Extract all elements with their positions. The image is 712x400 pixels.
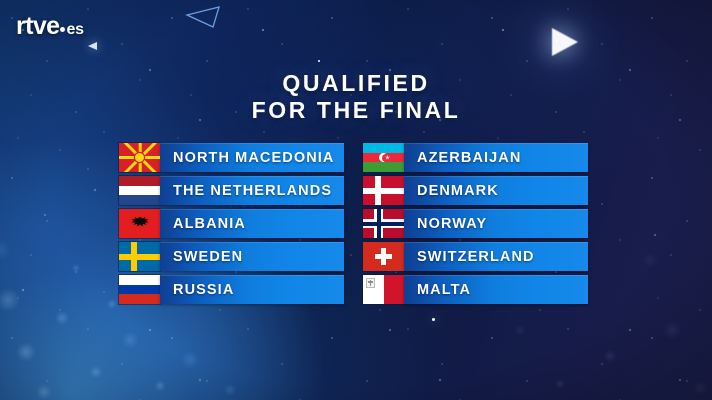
broadcast-graphic: rtvees QUALIFIED FOR THE FINAL NORTH MAC… bbox=[0, 0, 712, 400]
table-row: THE NETHERLANDS DENMARK bbox=[119, 176, 593, 205]
qualifier-entry-sweden: SWEDEN bbox=[119, 242, 344, 271]
flag-malta bbox=[363, 275, 404, 304]
flag-azerbaijan bbox=[363, 143, 404, 172]
qualifier-entry-russia: RUSSIA bbox=[119, 275, 344, 304]
flag-north-macedonia bbox=[119, 143, 160, 172]
country-label: RUSSIA bbox=[160, 282, 234, 298]
qualifier-entry-albania: ALBANIA bbox=[119, 209, 344, 238]
flag-switzerland bbox=[363, 242, 404, 271]
country-bar: MALTA bbox=[404, 275, 588, 304]
qualifier-entry-netherlands: THE NETHERLANDS bbox=[119, 176, 344, 205]
albania-eagle-icon bbox=[129, 215, 151, 233]
qualifier-entry-norway: NORWAY bbox=[363, 209, 588, 238]
rtve-logo-word: rtve bbox=[16, 12, 59, 40]
table-row: SWEDEN SWITZERLAND bbox=[119, 242, 593, 271]
country-bar: DENMARK bbox=[404, 176, 588, 205]
rtve-logo-suffix: es bbox=[66, 21, 83, 38]
spark-icon-3 bbox=[318, 60, 320, 62]
country-label: THE NETHERLANDS bbox=[160, 183, 332, 199]
qualifier-entry-azerbaijan: AZERBAIJAN bbox=[363, 143, 588, 172]
country-label: NORWAY bbox=[404, 216, 487, 232]
triangle-small-icon bbox=[88, 42, 97, 50]
country-label: DENMARK bbox=[404, 183, 499, 199]
qualifier-entry-switzerland: SWITZERLAND bbox=[363, 242, 588, 271]
country-label: SWITZERLAND bbox=[404, 249, 535, 265]
flag-denmark bbox=[363, 176, 404, 205]
flag-sweden bbox=[119, 242, 160, 271]
flag-netherlands bbox=[119, 176, 160, 205]
qualifier-entry-north-macedonia: NORTH MACEDONIA bbox=[119, 143, 344, 172]
country-bar: THE NETHERLANDS bbox=[160, 176, 344, 205]
page-title: QUALIFIED FOR THE FINAL bbox=[0, 70, 712, 124]
country-label: NORTH MACEDONIA bbox=[160, 150, 335, 166]
qualifiers-board: NORTH MACEDONIA AZERBAIJAN THE NETHERLAN… bbox=[119, 143, 593, 308]
country-label: AZERBAIJAN bbox=[404, 150, 521, 166]
spark-icon-1 bbox=[432, 318, 435, 321]
flag-albania bbox=[119, 209, 160, 238]
country-bar: ALBANIA bbox=[160, 209, 344, 238]
country-bar: AZERBAIJAN bbox=[404, 143, 588, 172]
country-bar: SWEDEN bbox=[160, 242, 344, 271]
triangle-glow-icon bbox=[552, 28, 578, 56]
title-line-1: QUALIFIED bbox=[282, 70, 429, 96]
country-bar: NORWAY bbox=[404, 209, 588, 238]
country-label: ALBANIA bbox=[160, 216, 246, 232]
qualifier-entry-malta: MALTA bbox=[363, 275, 588, 304]
table-row: RUSSIA MALTA bbox=[119, 275, 593, 304]
title-line-2: FOR THE FINAL bbox=[0, 97, 712, 124]
flag-russia bbox=[119, 275, 160, 304]
rtve-logo-dot bbox=[60, 27, 65, 32]
country-label: MALTA bbox=[404, 282, 471, 298]
country-bar: SWITZERLAND bbox=[404, 242, 588, 271]
spark-icon-2 bbox=[556, 40, 558, 42]
country-bar: NORTH MACEDONIA bbox=[160, 143, 344, 172]
qualifier-entry-denmark: DENMARK bbox=[363, 176, 588, 205]
table-row: NORTH MACEDONIA AZERBAIJAN bbox=[119, 143, 593, 172]
country-label: SWEDEN bbox=[160, 249, 243, 265]
table-row: ALBANIA NORWAY bbox=[119, 209, 593, 238]
country-bar: RUSSIA bbox=[160, 275, 344, 304]
flag-norway bbox=[363, 209, 404, 238]
rtve-logo: rtvees bbox=[16, 14, 84, 39]
